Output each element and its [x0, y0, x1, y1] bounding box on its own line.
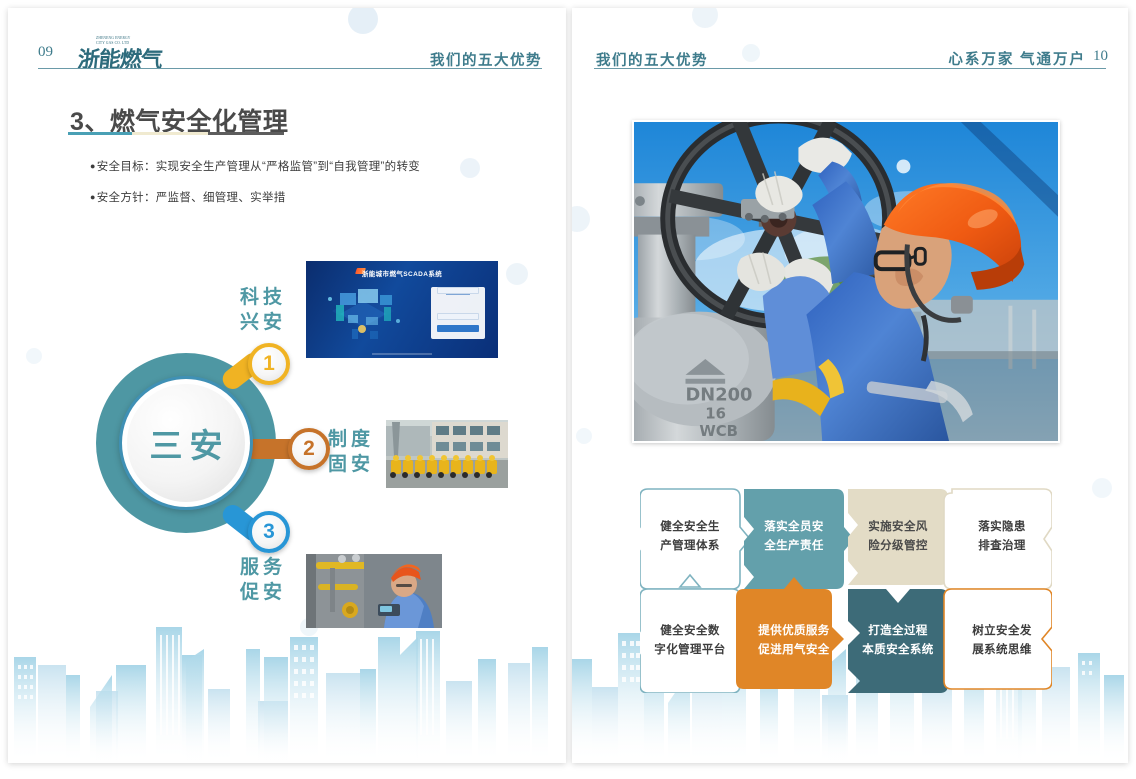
branch-label-2-line2: 固安: [328, 454, 374, 475]
branch-label-1-line2: 兴安: [240, 312, 286, 333]
flow-cell-5-line2: 字化管理平台: [654, 641, 725, 660]
flow-cell-8[interactable]: 树立安全发 展系统思维: [952, 591, 1052, 691]
scada-login-screenshot: 浙能城市燃气SCADA系统: [306, 261, 498, 358]
title-underline: [68, 132, 284, 135]
scada-username-input[interactable]: [437, 313, 479, 320]
city-skyline-decoration: [8, 603, 566, 763]
branch-node-3[interactable]: 3: [248, 511, 290, 553]
safety-management-flowchart: 健全安全生 产管理体系 落实全员安 全生产责任 实施安全风 险分级管控 落实隐患…: [640, 487, 1052, 693]
scada-title-text: 浙能城市燃气SCADA系统: [362, 268, 442, 278]
diagram-center-circle: 三安: [119, 376, 253, 510]
branch-node-2[interactable]: 2: [288, 428, 330, 470]
svg-text:WCB: WCB: [699, 423, 738, 440]
scada-isometric-illustration: [318, 285, 408, 347]
gas-inspector-photo: [306, 554, 442, 628]
flow-cell-2-line1: 落实全员安: [764, 518, 824, 537]
decorative-bubble: [742, 44, 760, 62]
diagram-center-label: 三安: [143, 419, 230, 467]
decorative-bubble: [348, 8, 378, 34]
left-page: ZHENENG ENERGY CITY GAS CO. LTD 浙能燃气 09 …: [8, 8, 566, 763]
bullet-text: 安全目标：实现安全生产管理从“严格监管”到“自我管理”的转变: [97, 161, 420, 173]
bullet-item-safety-goal: ●安全目标：实现安全生产管理从“严格监管”到“自我管理”的转变: [90, 158, 420, 174]
flow-cell-5-line1: 健全安全数: [660, 622, 720, 641]
decorative-bubble: [460, 158, 480, 178]
flow-cell-3[interactable]: 实施安全风 险分级管控: [848, 487, 948, 587]
flow-cell-1[interactable]: 健全安全生 产管理体系: [640, 487, 740, 587]
header-section-label-left: 我们的五大优势: [430, 49, 542, 70]
decorative-bubble: [506, 263, 528, 285]
scada-password-input[interactable]: [437, 325, 479, 332]
decorative-bubble: [1092, 478, 1112, 498]
flow-cell-6[interactable]: 提供优质服务 促进用气安全: [744, 591, 844, 691]
scooter-fleet-photo: [386, 420, 508, 488]
decorative-bubble: [572, 206, 590, 232]
flow-cell-5[interactable]: 健全安全数 字化管理平台: [640, 591, 740, 691]
decorative-bubble: [692, 8, 718, 28]
flow-cell-2-line2: 全生产责任: [764, 537, 824, 556]
flow-cell-6-line2: 促进用气安全: [758, 641, 829, 660]
decorative-bubble: [26, 348, 42, 364]
svg-text:16: 16: [705, 405, 726, 422]
flow-cell-1-line2: 产管理体系: [660, 537, 720, 556]
flow-cell-4-line2: 排查治理: [978, 537, 1026, 556]
flow-cell-7[interactable]: 打造全过程 本质安全系统: [848, 591, 948, 691]
scada-login-card[interactable]: [431, 287, 485, 339]
flow-cell-3-line1: 实施安全风: [868, 518, 928, 537]
branch-label-1-line1: 科技: [240, 287, 286, 308]
branch-label-1: 科技 兴安: [240, 285, 286, 335]
flow-cell-2[interactable]: 落实全员安 全生产责任: [744, 487, 844, 587]
right-page-number: 10: [1093, 48, 1108, 65]
bullet-marker-icon: ●: [90, 161, 96, 171]
decorative-bubble: [576, 428, 592, 444]
flow-cell-7-line2: 本质安全系统: [862, 641, 933, 660]
branch-label-3-line2: 促安: [240, 582, 286, 603]
flow-cell-3-line2: 险分级管控: [868, 537, 928, 556]
header-section-label-right: 我们的五大优势: [596, 49, 708, 70]
header-slogan: 心系万家 气通万户: [948, 48, 1086, 69]
flow-cell-4-line1: 落实隐患: [978, 518, 1026, 537]
flow-cell-6-line1: 提供优质服务: [758, 622, 829, 641]
flow-cell-8-line1: 树立安全发: [972, 622, 1032, 641]
branch-node-1[interactable]: 1: [248, 343, 290, 385]
left-page-number: 09: [38, 44, 53, 61]
three-safety-diagram: 三安 1 2 3: [96, 353, 306, 563]
flow-cell-8-line2: 展系统思维: [972, 641, 1032, 660]
flow-cell-4[interactable]: 落实隐患 排查治理: [952, 487, 1052, 587]
logo-chinese-text: 浙能燃气: [76, 42, 163, 74]
branch-label-2-line1: 制度: [328, 429, 374, 450]
presentation-slide: ZHENENG ENERGY CITY GAS CO. LTD 浙能燃气 09 …: [0, 0, 1136, 779]
scada-footer-text: [372, 353, 432, 355]
flow-cell-1-line1: 健全安全生: [660, 518, 720, 537]
worker-valve-photo: DN200 16 WCB: [632, 120, 1060, 443]
bullet-text: 安全方针：严监督、细管理、实举措: [97, 192, 286, 204]
scada-login-button[interactable]: [437, 287, 479, 294]
company-logo: ZHENENG ENERGY CITY GAS CO. LTD 浙能燃气: [64, 36, 154, 72]
branch-label-3: 服务 促安: [240, 555, 286, 605]
bullet-item-safety-policy: ●安全方针：严监督、细管理、实举措: [90, 189, 286, 205]
flow-cell-7-line1: 打造全过程: [868, 622, 928, 641]
branch-label-2: 制度 固安: [328, 427, 374, 477]
branch-label-3-line1: 服务: [240, 557, 286, 578]
svg-text:DN200: DN200: [686, 385, 753, 406]
bullet-marker-icon: ●: [90, 192, 96, 202]
